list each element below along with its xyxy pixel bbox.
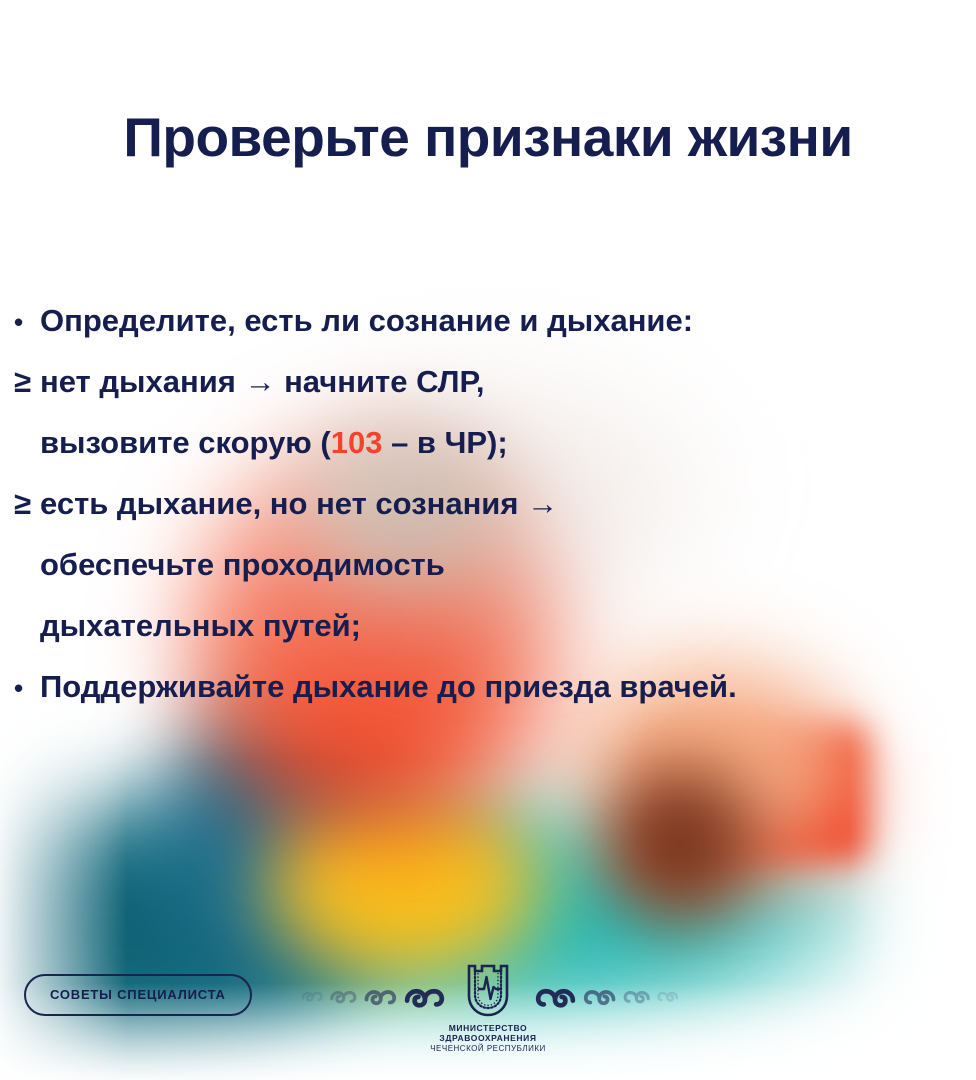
bullet-marker-dot-2: • — [14, 675, 40, 701]
bullet-line-2: ≥ нет дыхания → начните СЛР, — [14, 366, 964, 427]
ministry-caption-line3: ЧЕЧЕНСКОЙ РЕСПУБЛИКИ — [430, 1044, 546, 1054]
bullet-line-3-text-before: вызовите скорую ( — [40, 425, 331, 460]
bullet-line-3-text: вызовите скорую (103 – в ЧР); — [40, 427, 508, 458]
page-title: Проверьте признаки жизни — [0, 109, 976, 167]
bullet-line-7: • Поддерживайте дыхание до приезда враче… — [14, 671, 964, 732]
bullet-line-4: ≥ есть дыхание, но нет сознания → — [14, 488, 964, 549]
bullet-line-2-text: нет дыхания → начните СЛР, — [40, 366, 484, 397]
ministry-caption: МИНИСТЕРСТВО ЗДРАВООХРАНЕНИЯ ЧЕЧЕНСКОЙ Р… — [430, 1023, 546, 1053]
background-blob-yellow-garment — [255, 790, 555, 990]
bullet-line-5: обеспечьте проходимость — [14, 549, 964, 610]
ministry-caption-line2: ЗДРАВООХРАНЕНИЯ — [430, 1033, 546, 1043]
bullet-line-4-text: есть дыхание, но нет сознания → — [40, 488, 558, 519]
bullet-line-1: • Определите, есть ли сознание и дыхание… — [14, 305, 964, 366]
background-blob-first-aid-case — [650, 725, 870, 860]
bullet-line-1-text: Определите, есть ли сознание и дыхание: — [40, 305, 693, 336]
ministry-logo: МИНИСТЕРСТВО ЗДРАВООХРАНЕНИЯ ЧЕЧЕНСКОЙ Р… — [0, 962, 976, 1053]
subbullet-marker-ge-2: ≥ — [14, 488, 40, 519]
background-blob-case-glow — [630, 705, 900, 895]
poster-root: Проверьте признаки жизни • Определите, е… — [0, 0, 976, 1080]
bullet-marker-dot: • — [14, 309, 40, 335]
background-blob-blue-jeans — [150, 690, 410, 990]
bullet-line-6: дыхательных путей; — [14, 610, 964, 671]
bullet-line-7-text: Поддерживайте дыхание до приезда врачей. — [40, 671, 737, 702]
ministry-shield-icon — [462, 962, 514, 1020]
bullet-line-3-text-after: – в ЧР); — [382, 425, 507, 460]
bullet-line-6-text: дыхательных путей; — [40, 610, 361, 641]
background-blob-shadow-limb — [595, 760, 765, 930]
bullet-line-5-text: обеспечьте проходимость — [40, 549, 445, 580]
emergency-number: 103 — [331, 425, 383, 460]
bullet-line-3: вызовите скорую (103 – в ЧР); — [14, 427, 964, 488]
ministry-caption-line1: МИНИСТЕРСТВО — [430, 1023, 546, 1033]
body-copy: • Определите, есть ли сознание и дыхание… — [14, 305, 964, 732]
subbullet-marker-ge: ≥ — [14, 366, 40, 397]
